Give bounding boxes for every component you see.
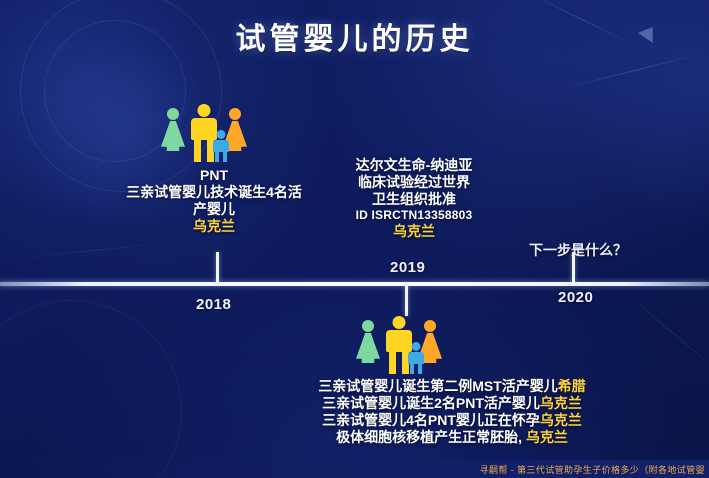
background-streak: [8, 241, 177, 260]
event-left-country: 乌克兰: [98, 218, 330, 235]
event-left-line3: 产婴儿: [98, 201, 330, 218]
event-left-line2: 三亲试管婴儿技术诞生4名活: [98, 184, 330, 201]
bottom-line-1-country: 希腊: [558, 378, 586, 394]
watermark-text: 寻嗣帮 - 第三代试管助孕生子价格多少（附各地试管婴: [480, 463, 705, 476]
bottom-line-3-text: 三亲试管婴儿4名PNT婴儿正在怀孕: [322, 412, 540, 428]
family-group-icon: [353, 312, 449, 374]
event-middle-text: 达尔文生命-纳迪亚 临床试验经过世界 卫生组织批准 ID ISRCTN13358…: [320, 157, 508, 240]
event-middle-trial-id: ID ISRCTN13358803: [320, 208, 508, 223]
child-blue-icon: [212, 130, 230, 162]
event-middle-line3: 卫生组织批准: [320, 191, 508, 208]
event-left-text: PNT 三亲试管婴儿技术诞生4名活 产婴儿 乌克兰: [98, 167, 330, 235]
event-left-line1: PNT: [98, 167, 330, 184]
bottom-line-2-text: 三亲试管婴儿诞生2名PNT活产婴儿: [322, 395, 540, 411]
timeline-year-2018: 2018: [196, 296, 231, 313]
bottom-line-4-country: 乌克兰: [526, 429, 568, 445]
slide-canvas: 试管婴儿的历史: [0, 0, 709, 478]
child-blue-icon: [407, 342, 425, 374]
bottom-line-4-text: 极体细胞核移植产生正常胚胎,: [336, 429, 526, 445]
timeline-axis: [0, 282, 709, 286]
timeline-year-2019: 2019: [390, 259, 425, 276]
event-middle-line1: 达尔文生命-纳迪亚: [320, 157, 508, 174]
event-middle-line2: 临床试验经过世界: [320, 174, 508, 191]
background-circle: [0, 300, 182, 478]
woman-green-icon: [355, 320, 381, 374]
bottom-line-3-country: 乌克兰: [540, 412, 582, 428]
event-bottom-text: 三亲试管婴儿诞生第二例MST活产婴儿希腊 三亲试管婴儿诞生2名PNT活产婴儿乌克…: [252, 378, 652, 446]
timeline-tick-2018: [216, 252, 219, 284]
family-group-icon: [158, 100, 254, 162]
next-step-question: 下一步是什么？: [498, 242, 658, 259]
timeline-tick-2020: [572, 252, 575, 284]
bottom-line-1-text: 三亲试管婴儿诞生第二例MST活产婴儿: [318, 378, 558, 394]
timeline-year-2020: 2020: [558, 289, 593, 306]
woman-green-icon: [160, 108, 186, 162]
bottom-line-2: 三亲试管婴儿诞生2名PNT活产婴儿乌克兰: [252, 395, 652, 412]
background-streak: [616, 285, 709, 376]
bottom-line-1: 三亲试管婴儿诞生第二例MST活产婴儿希腊: [252, 378, 652, 395]
page-title: 试管婴儿的历史: [0, 14, 709, 58]
bottom-line-3: 三亲试管婴儿4名PNT婴儿正在怀孕乌克兰: [252, 412, 652, 429]
bottom-line-2-country: 乌克兰: [540, 395, 582, 411]
event-middle-country: 乌克兰: [320, 223, 508, 240]
bottom-line-4: 极体细胞核移植产生正常胚胎, 乌克兰: [252, 429, 652, 446]
event-right-question: 下一步是什么？: [498, 242, 658, 259]
